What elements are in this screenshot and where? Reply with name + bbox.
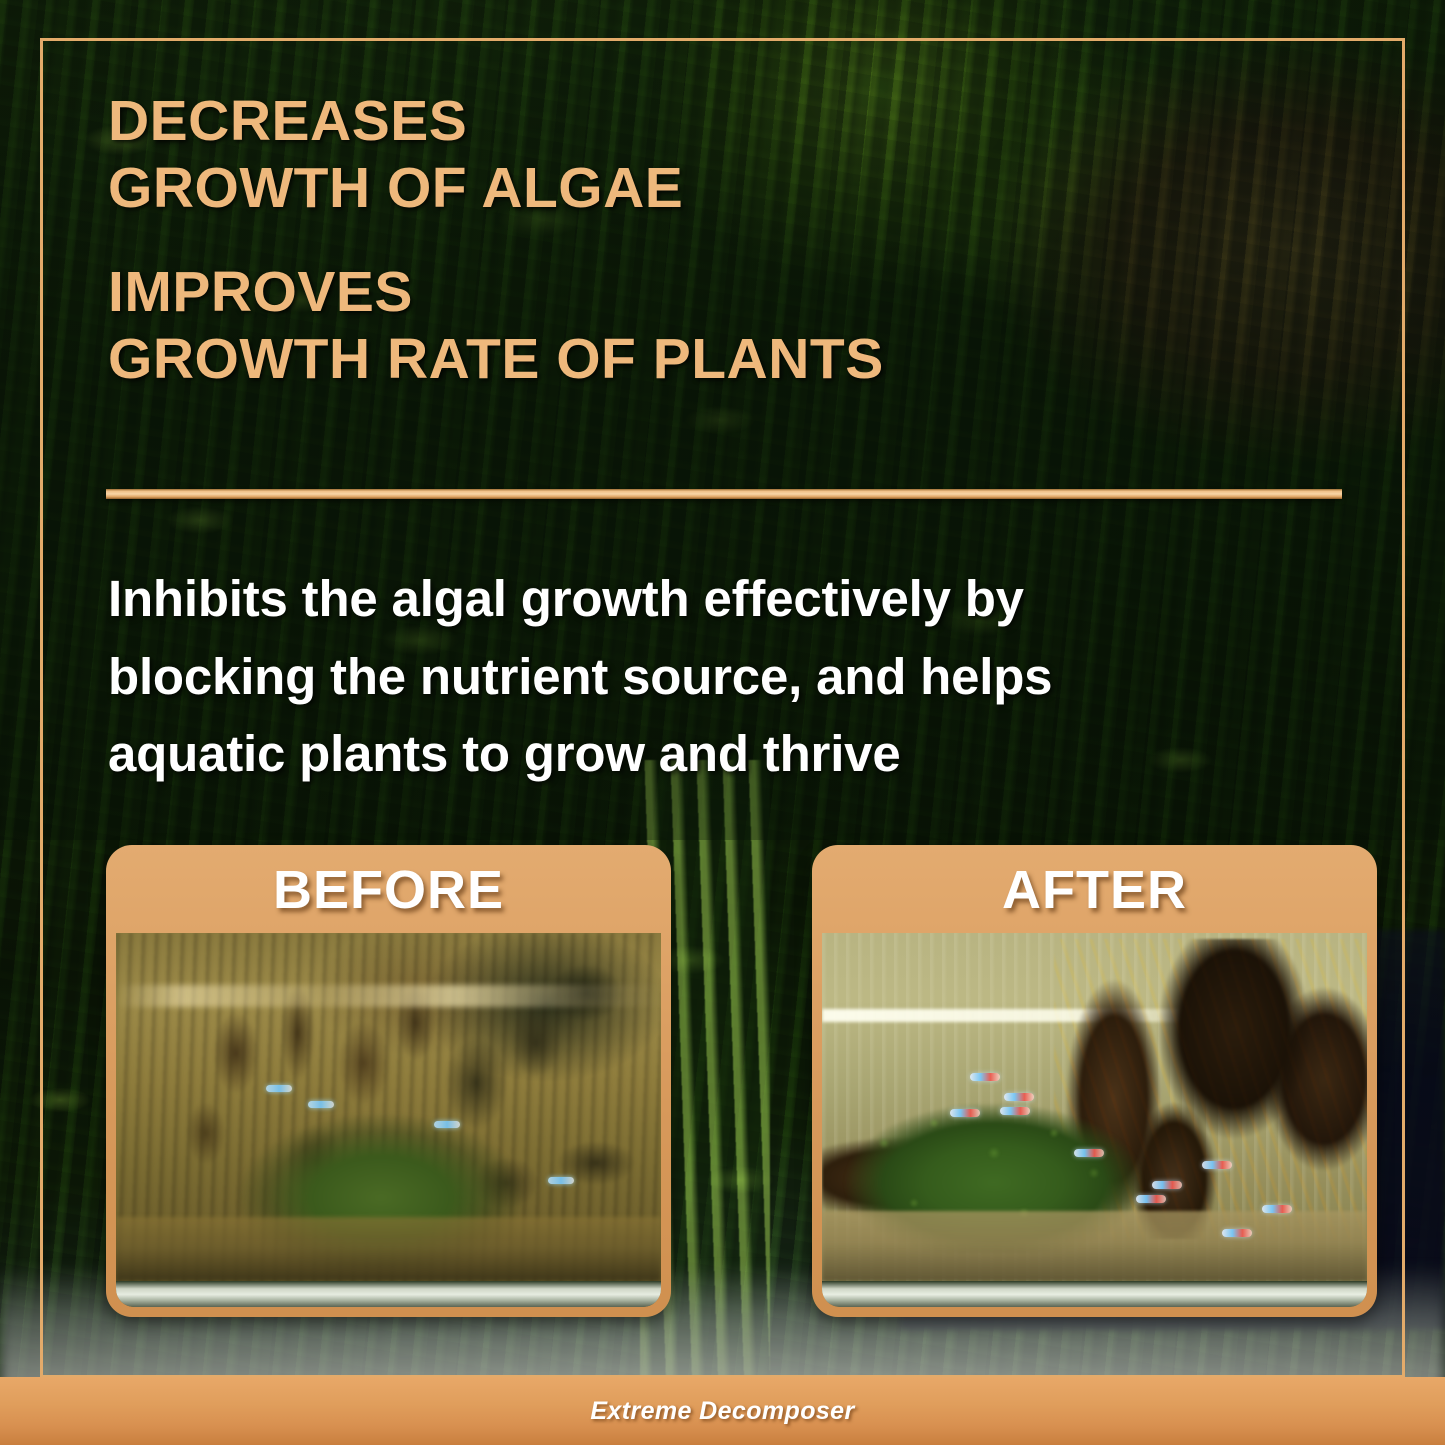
after-fish-4 <box>1000 1107 1030 1115</box>
after-fish-10 <box>1222 1229 1252 1237</box>
before-fish-1 <box>266 1085 292 1092</box>
before-light-streak <box>116 985 661 1007</box>
before-fish-4 <box>548 1177 574 1184</box>
product-name: Extreme Decomposer <box>590 1397 854 1426</box>
after-aquarium-photo <box>822 933 1367 1307</box>
gold-divider-line <box>106 489 1342 499</box>
footer-brand-bar: Extreme Decomposer <box>0 1377 1445 1445</box>
before-aquarium-photo <box>116 933 661 1307</box>
after-fish-5 <box>1074 1149 1104 1157</box>
after-fish-8 <box>1136 1195 1166 1203</box>
headline-block-one: DECREASES GROWTH OF ALGAE <box>108 88 1168 223</box>
headline-group: DECREASES GROWTH OF ALGAE IMPROVES GROWT… <box>108 88 1168 393</box>
body-line-2: blocking the nutrient source, and helps <box>108 638 1318 716</box>
after-label: AFTER <box>812 845 1377 935</box>
after-fish-1 <box>970 1073 1000 1081</box>
after-tank-rim <box>822 1281 1367 1307</box>
after-fish-7 <box>1152 1181 1182 1189</box>
headline-block-two: IMPROVES GROWTH RATE OF PLANTS <box>108 259 1168 394</box>
body-line-3: aquatic plants to grow and thrive <box>108 715 1318 793</box>
headline-line-1: DECREASES <box>108 88 1168 155</box>
body-paragraph: Inhibits the algal growth effectively by… <box>108 560 1318 793</box>
after-fish-2 <box>1004 1093 1034 1101</box>
before-fish-2 <box>308 1101 334 1108</box>
after-fish-6 <box>1202 1161 1232 1169</box>
after-sand-substrate <box>822 1211 1367 1281</box>
product-infographic: DECREASES GROWTH OF ALGAE IMPROVES GROWT… <box>0 0 1445 1445</box>
after-fish-3 <box>950 1109 980 1117</box>
before-substrate <box>116 1217 661 1281</box>
headline-line-3: IMPROVES <box>108 259 1168 326</box>
after-panel: AFTER <box>812 845 1377 1317</box>
body-line-1: Inhibits the algal growth effectively by <box>108 560 1318 638</box>
headline-line-2: GROWTH OF ALGAE <box>108 155 1168 222</box>
headline-line-4: GROWTH RATE OF PLANTS <box>108 326 1168 393</box>
before-label: BEFORE <box>106 845 671 935</box>
after-fish-9 <box>1262 1205 1292 1213</box>
before-panel: BEFORE <box>106 845 671 1317</box>
before-tank-rim <box>116 1281 661 1307</box>
before-fish-3 <box>434 1121 460 1128</box>
before-after-comparison: BEFORE VS AFTER <box>0 845 1445 1325</box>
